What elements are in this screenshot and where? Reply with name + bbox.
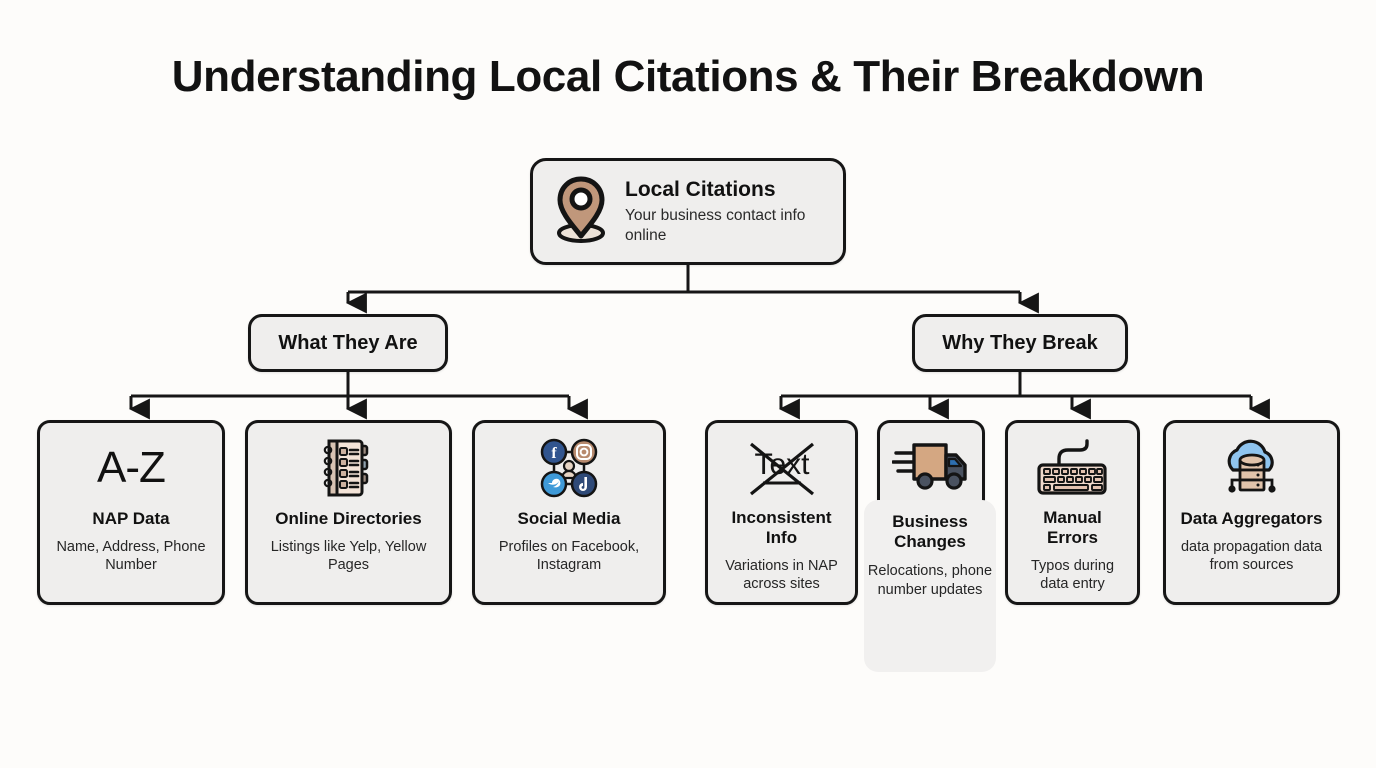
leaf-title: Online Directories (275, 509, 421, 529)
leaf-card-inconsistent-info[interactable]: Text Inconsistent Info Variations in NAP… (705, 420, 858, 605)
cloud-database-icon (1213, 435, 1291, 501)
leaf-title: Inconsistent Info (716, 508, 847, 547)
root-title: Local Citations (625, 178, 825, 202)
keyboard-icon (1033, 435, 1113, 500)
crossed-out-text-icon: Text (739, 435, 825, 500)
leaf-card-data-aggregators[interactable]: Data Aggregators data propagation data f… (1163, 420, 1340, 605)
page-title: Understanding Local Citations & Their Br… (0, 52, 1376, 102)
business-changes-overflow-panel: Business Changes Relocations, phone numb… (864, 500, 996, 672)
leaf-description: Profiles on Facebook, Instagram (483, 538, 655, 575)
leaf-title: NAP Data (92, 509, 169, 529)
branch-why-they-break[interactable]: Why They Break (912, 314, 1128, 372)
map-pin-icon (551, 173, 611, 250)
leaf-description: Typos during data entry (1016, 557, 1129, 594)
leaf-description-overflow: Relocations, phone number updates (864, 562, 996, 600)
address-book-icon (319, 435, 379, 501)
leaf-description: Listings like Yelp, Yellow Pages (256, 538, 441, 575)
leaf-description: Name, Address, Phone Number (48, 538, 214, 575)
leaf-card-nap-data[interactable]: A-Z NAP Data Name, Address, Phone Number (37, 420, 225, 605)
leaf-card-manual-errors[interactable]: Manual Errors Typos during data entry (1005, 420, 1140, 605)
leaf-card-online-directories[interactable]: Online Directories Listings like Yelp, Y… (245, 420, 452, 605)
leaf-title: Data Aggregators (1180, 509, 1322, 529)
leaf-title: Manual Errors (1016, 508, 1129, 547)
root-subtitle: Your business contact info online (625, 206, 825, 245)
leaf-title-overflow: Business Changes (864, 512, 996, 552)
delivery-truck-icon (892, 435, 970, 495)
leaf-title: Social Media (518, 509, 621, 529)
a-to-z-text-icon: A-Z (97, 435, 165, 501)
root-node-local-citations[interactable]: Local Citations Your business contact in… (530, 158, 846, 265)
branch-what-they-are[interactable]: What They Are (248, 314, 448, 372)
social-network-icon: f (535, 435, 603, 501)
connector-lines (0, 0, 1376, 768)
svg-text:f: f (551, 445, 557, 462)
leaf-description: data propagation data from sources (1174, 538, 1329, 575)
leaf-card-social-media[interactable]: f Social Media Profiles on Facebook, Ins… (472, 420, 666, 605)
leaf-description: Variations in NAP across sites (716, 557, 847, 594)
